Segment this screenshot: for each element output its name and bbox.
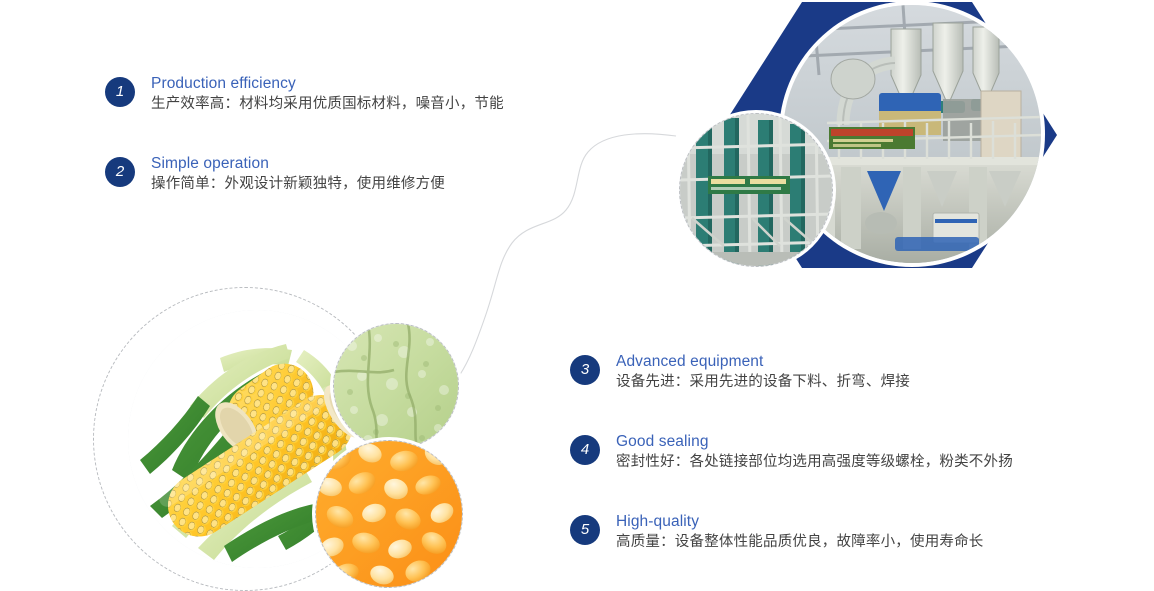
feature-badge-2: 2 — [105, 157, 135, 187]
feature-text-3: Advanced equipment 设备先进：采用先进的设备下料、折弯、焊接 — [616, 352, 910, 393]
feature-text-4: Good sealing 密封性好：各处链接部位均选用高强度等级螺栓，粉类不外扬 — [616, 432, 1013, 473]
feature-description-4: 密封性好：各处链接部位均选用高强度等级螺栓，粉类不外扬 — [616, 452, 1013, 473]
feature-item-4[interactable]: 4 Good sealing 密封性好：各处链接部位均选用高强度等级螺栓，粉类不… — [570, 432, 1013, 473]
feature-title-4: Good sealing — [616, 432, 1013, 451]
feature-description-5: 高质量：设备整体性能品质优良，故障率小，使用寿命长 — [616, 532, 984, 553]
feature-item-3[interactable]: 3 Advanced equipment 设备先进：采用先进的设备下料、折弯、焊… — [570, 352, 910, 393]
feature-description-2: 操作简单：外观设计新颖独特，使用维修方便 — [151, 174, 445, 195]
feature-badge-3: 3 — [570, 355, 600, 385]
feature-item-5[interactable]: 5 High-quality 高质量：设备整体性能品质优良，故障率小，使用寿命长 — [570, 512, 984, 553]
feature-description-3: 设备先进：采用先进的设备下料、折弯、焊接 — [616, 372, 910, 393]
feature-infographic: 1 Production efficiency 生产效率高：材料均采用优质国标材… — [0, 0, 1154, 591]
feature-text-5: High-quality 高质量：设备整体性能品质优良，故障率小，使用寿命长 — [616, 512, 984, 553]
feature-badge-4: 4 — [570, 435, 600, 465]
feature-badge-5: 5 — [570, 515, 600, 545]
feature-title-5: High-quality — [616, 512, 984, 531]
feature-text-1: Production efficiency 生产效率高：材料均采用优质国标材料，… — [151, 74, 504, 115]
green-milling-machinery-photo — [679, 113, 833, 267]
feature-text-2: Simple operation 操作简单：外观设计新颖独特，使用维修方便 — [151, 154, 445, 195]
orange-corn-grits-photo — [315, 440, 463, 588]
feature-title-1: Production efficiency — [151, 74, 504, 93]
feature-description-1: 生产效率高：材料均采用优质国标材料，噪音小，节能 — [151, 94, 504, 115]
feature-badge-1: 1 — [105, 77, 135, 107]
feature-item-1[interactable]: 1 Production efficiency 生产效率高：材料均采用优质国标材… — [105, 74, 504, 115]
feature-title-3: Advanced equipment — [616, 352, 910, 371]
feature-item-2[interactable]: 2 Simple operation 操作简单：外观设计新颖独特，使用维修方便 — [105, 154, 445, 195]
feature-title-2: Simple operation — [151, 154, 445, 173]
green-corn-paste-photo — [333, 323, 459, 449]
